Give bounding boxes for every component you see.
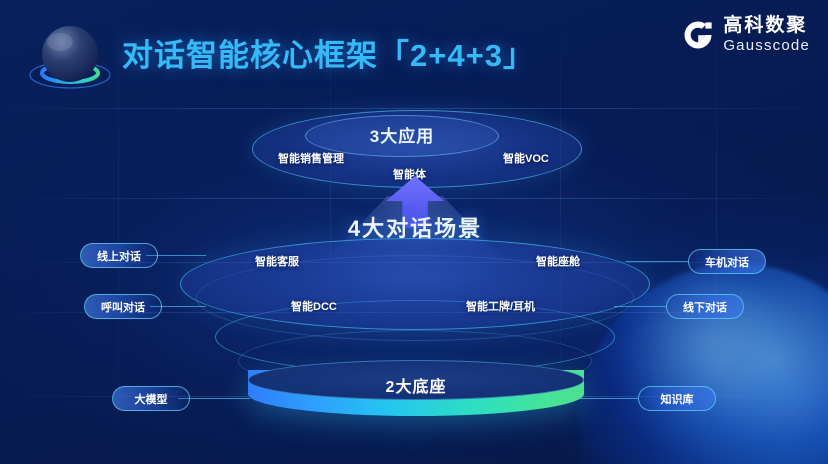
applications-title: 3大应用: [305, 122, 499, 147]
application-item-1: 智能VOC: [503, 150, 549, 166]
scenario-item-2: 智能DCC: [291, 298, 337, 314]
connector-line: [626, 261, 688, 262]
pill-left-2[interactable]: 大模型: [112, 386, 190, 411]
agent-label: 智能体: [393, 166, 426, 182]
slide-canvas: 对话智能核心框架「2+4+3」 高科数聚 Gausscode 3大应用 智能销售…: [0, 0, 828, 464]
brand-name-en: Gausscode: [723, 38, 810, 53]
pill-left-1[interactable]: 呼叫对话: [84, 294, 162, 319]
gausscode-g-icon: [681, 18, 715, 52]
brand-name-cn: 高科数聚: [723, 16, 810, 35]
application-item-0: 智能销售管理: [278, 150, 344, 166]
scenarios-disc: [180, 238, 650, 330]
pill-right-1[interactable]: 线下对话: [666, 294, 744, 319]
brand-logo: 高科数聚 Gausscode: [681, 16, 810, 53]
connector-line: [614, 306, 666, 307]
foundation-title: 2大底座: [248, 373, 584, 397]
page-title: 对话智能核心框架「2+4+3」: [122, 30, 535, 75]
sphere-logo-icon: [24, 12, 116, 98]
background-grid-line: [716, 0, 717, 464]
scenarios-title: 4大对话场景: [250, 211, 580, 243]
connector-line: [578, 398, 638, 399]
pill-right-0[interactable]: 车机对话: [688, 249, 766, 274]
background-grid-line: [0, 108, 828, 109]
scenario-item-0: 智能客服: [255, 253, 299, 269]
pill-left-0[interactable]: 线上对话: [80, 243, 158, 268]
scenario-item-3: 智能工牌/耳机: [466, 298, 535, 314]
pill-right-2[interactable]: 知识库: [638, 386, 716, 411]
foundation-base: 2大底座: [248, 360, 584, 424]
scenario-item-1: 智能座舱: [536, 253, 580, 269]
